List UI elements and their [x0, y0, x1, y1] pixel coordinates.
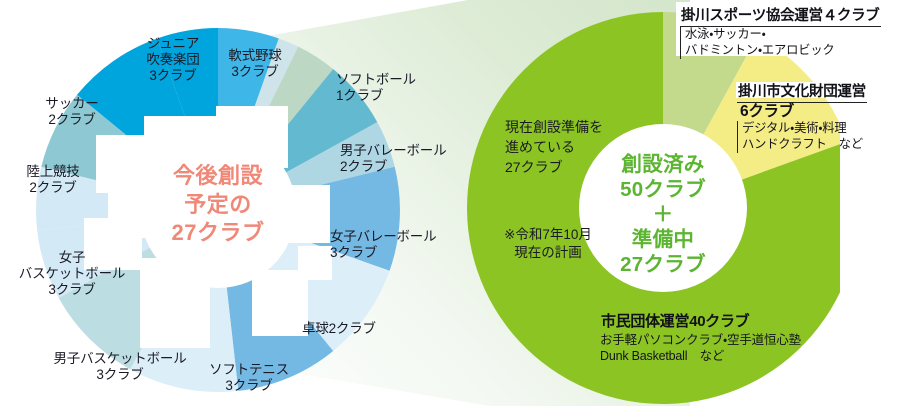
callout-culture-foundation: 掛川市文化財団運営 6クラブ デジタル・美術・料理 ハンドクラフト など: [737, 80, 899, 153]
pie-label-womens-volleyball: 女子バレーボール 3クラブ: [330, 229, 458, 261]
left-pie-center-label: 今後創設 予定の 27クラブ: [138, 162, 298, 248]
pie-label-athletics: 陸上競技 2クラブ: [6, 164, 100, 196]
callout-citizen-groups-head: 市民団体運営40クラブ: [600, 310, 750, 332]
pie-label-soccer: サッカー 2クラブ: [26, 96, 118, 128]
callout-sports-association-head: 掛川スポーツ協会運営４クラブ: [680, 4, 881, 27]
infographic-canvas: 今後創設 予定の 27クラブ ジュニア 吹奏楽団 3クラブ 軟式野球 3クラブ …: [0, 0, 900, 406]
callout-sports-association-sub: 水泳・サッカー・ バドミントン・エアロビック: [680, 27, 896, 59]
pie-label-womens-basketball: 女子 バスケットボール 3クラブ: [8, 250, 136, 298]
pie-label-mens-basketball: 男子バスケットボール 3クラブ: [40, 351, 200, 383]
callout-sports-association: 掛川スポーツ協会運営４クラブ 水泳・サッカー・ バドミントン・エアロビック: [680, 4, 896, 59]
pie-label-softball: ソフトボール 1クラブ: [336, 72, 446, 104]
right-pie-center-label: 創設済み 50クラブ ＋ 準備中 27クラブ: [592, 152, 734, 277]
pie-label-table-tennis: 卓球2クラブ: [302, 321, 412, 337]
callout-citizen-groups-sub: お手軽パソコンクラブ・空手道恒心塾 Dunk Basketball など: [600, 332, 860, 365]
pie-label-junior-brass-band: ジュニア 吹奏楽団 3クラブ: [134, 36, 212, 84]
callout-culture-foundation-sub: デジタル・美術・料理 ハンドクラフト など: [737, 121, 899, 153]
pie-label-soft-tennis: ソフトテニス 3クラブ: [200, 362, 298, 394]
middle-arc-note: ※令和7年10月 現在の計画: [488, 226, 608, 262]
pie-label-mens-volleyball: 男子バレーボール 2クラブ: [340, 143, 468, 175]
pie-label-rubber-baseball: 軟式野球 3クラブ: [216, 48, 294, 80]
callout-culture-foundation-count: 6クラブ: [737, 103, 899, 121]
callout-citizen-groups: 市民団体運営40クラブ お手軽パソコンクラブ・空手道恒心塾 Dunk Baske…: [600, 310, 860, 365]
callout-culture-foundation-head: 掛川市文化財団運営: [737, 80, 867, 103]
